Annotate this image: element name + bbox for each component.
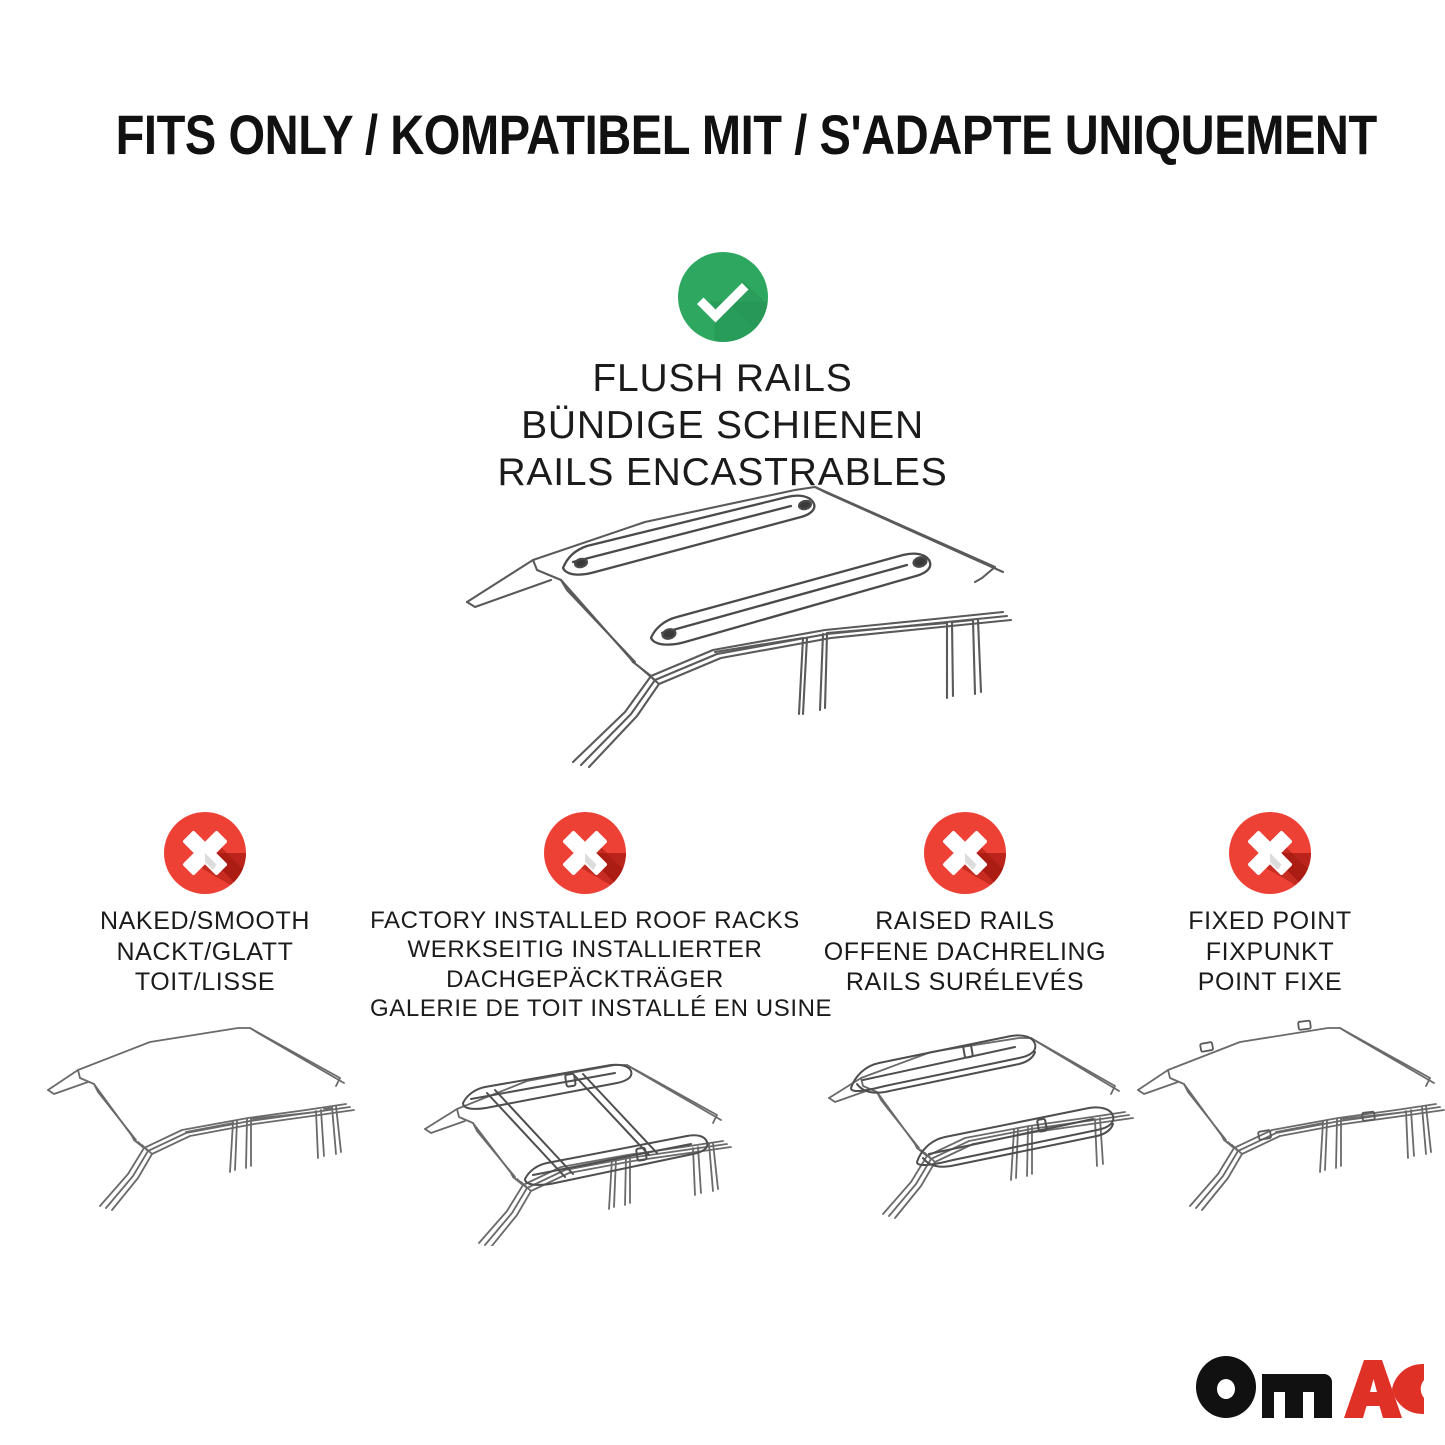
label-line-fr: RAILS SURÉLEVÉS xyxy=(815,967,1115,998)
compatible-label-en: FLUSH RAILS xyxy=(0,356,1445,403)
label-line-fr: TOIT/LISSE xyxy=(35,967,375,998)
check-circle-icon xyxy=(678,252,768,342)
page-title: FITS ONLY / KOMPATIBEL MIT / S'ADAPTE UN… xyxy=(116,102,1330,167)
incompatible-labels: RAISED RAILS OFFENE DACHRELING RAILS SUR… xyxy=(815,906,1115,998)
label-line-fr: GALERIE DE TOIT INSTALLÉ EN USINE xyxy=(370,994,800,1023)
x-circle-icon xyxy=(164,812,246,894)
compatibility-infographic: FITS ONLY / KOMPATIBEL MIT / S'ADAPTE UN… xyxy=(0,0,1445,1445)
car-roof-flush-rails-illustration xyxy=(455,462,1015,772)
label-line-de-2: DACHGEPÄCKTRÄGER xyxy=(370,965,800,994)
compatible-label-de: BÜNDIGE SCHIENEN xyxy=(0,403,1445,450)
car-roof-raised-rails-illustration xyxy=(815,1006,1115,1226)
incompatible-item-factory-roof-racks: FACTORY INSTALLED ROOF RACKS WERKSEITIG … xyxy=(370,812,800,1251)
compatible-section: FLUSH RAILS BÜNDIGE SCHIENEN RAILS ENCAS… xyxy=(0,252,1445,496)
car-roof-naked-illustration xyxy=(35,1006,375,1226)
label-line-en: NAKED/SMOOTH xyxy=(35,906,375,937)
car-roof-fixed-point-illustration xyxy=(1130,1006,1410,1226)
incompatible-labels: NAKED/SMOOTH NACKT/GLATT TOIT/LISSE xyxy=(35,906,375,998)
x-circle-icon xyxy=(544,812,626,894)
incompatible-item-fixed-point: FIXED POINT FIXPUNKT POINT FIXE xyxy=(1130,812,1410,1226)
label-line-en: FACTORY INSTALLED ROOF RACKS xyxy=(370,906,800,935)
incompatible-item-raised-rails: RAISED RAILS OFFENE DACHRELING RAILS SUR… xyxy=(815,812,1115,1226)
x-circle-icon xyxy=(924,812,1006,894)
label-line-de-1: WERKSEITIG INSTALLIERTER xyxy=(370,935,800,964)
label-line-de: FIXPUNKT xyxy=(1130,937,1410,968)
label-line-de: NACKT/GLATT xyxy=(35,937,375,968)
logo-letter-o xyxy=(1196,1356,1256,1418)
logo-letter-m xyxy=(1262,1374,1332,1418)
omac-logo xyxy=(1192,1352,1424,1426)
car-roof-factory-racks-illustration xyxy=(370,1031,800,1251)
incompatible-labels: FACTORY INSTALLED ROOF RACKS WERKSEITIG … xyxy=(370,906,800,1023)
incompatible-section: NAKED/SMOOTH NACKT/GLATT TOIT/LISSE xyxy=(0,812,1445,1242)
label-line-en: RAISED RAILS xyxy=(815,906,1115,937)
label-line-fr: POINT FIXE xyxy=(1130,967,1410,998)
label-line-en: FIXED POINT xyxy=(1130,906,1410,937)
x-circle-icon xyxy=(1229,812,1311,894)
incompatible-labels: FIXED POINT FIXPUNKT POINT FIXE xyxy=(1130,906,1410,998)
label-line-de: OFFENE DACHRELING xyxy=(815,937,1115,968)
incompatible-item-naked-smooth: NAKED/SMOOTH NACKT/GLATT TOIT/LISSE xyxy=(35,812,375,1226)
